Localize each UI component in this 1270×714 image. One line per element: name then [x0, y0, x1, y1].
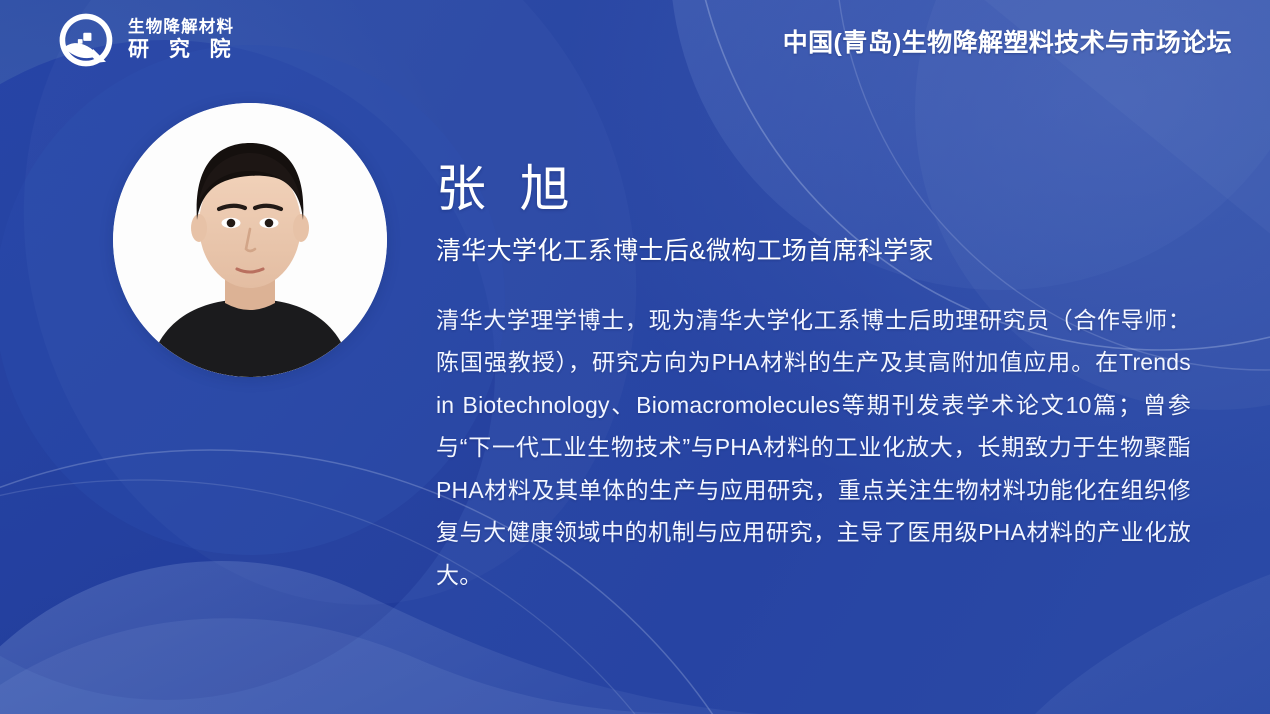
institute-logo: 生物降解材料 研 究 院: [57, 11, 238, 69]
slide-header: 生物降解材料 研 究 院 中国(青岛)生物降解塑料技术与市场论坛: [0, 0, 1270, 92]
forum-title: 中国(青岛)生物降解塑料技术与市场论坛: [783, 23, 1232, 59]
institute-logo-mark-icon: [57, 11, 115, 69]
institute-logo-text: 生物降解材料 研 究 院: [128, 17, 238, 64]
speaker-info: 张 旭 清华大学化工系博士后&微构工场首席科学家 清华大学理学博士，现为清华大学…: [436, 160, 1196, 596]
decor-wave-bottom-left-2: [0, 618, 700, 714]
speaker-introduction-slide: 生物降解材料 研 究 院 中国(青岛)生物降解塑料技术与市场论坛: [0, 0, 1270, 714]
speaker-bio: 清华大学理学博士，现为清华大学化工系博士后助理研究员（合作导师：陈国强教授），研…: [436, 299, 1191, 597]
speaker-role: 清华大学化工系博士后&微构工场首席科学家: [436, 235, 1196, 268]
speaker-name: 张 旭: [436, 160, 1196, 219]
logo-line-2: 研 究 院: [128, 37, 238, 63]
logo-line-1: 生物降解材料: [128, 17, 238, 38]
speaker-portrait: [113, 103, 387, 377]
speaker-bio-text: 清华大学理学博士，现为清华大学化工系博士后助理研究员（合作导师：陈国强教授），研…: [436, 299, 1191, 597]
